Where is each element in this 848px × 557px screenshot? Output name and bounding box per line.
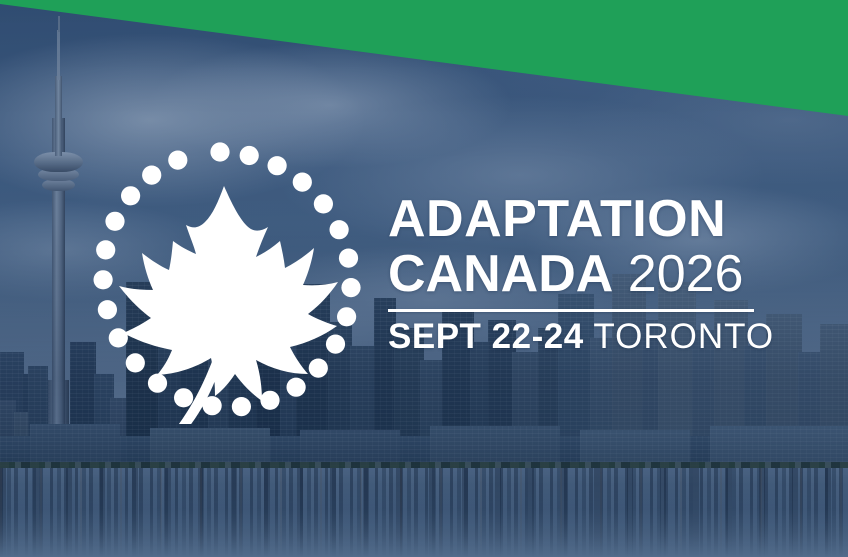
event-title-line1: ADAPTATION bbox=[388, 192, 768, 246]
adaptation-canada-maple-leaf-logo bbox=[72, 128, 368, 424]
event-city: TORONTO bbox=[593, 317, 774, 356]
event-title-line2: CANADA 2026 bbox=[388, 246, 768, 302]
water-reflection-streaks-warm bbox=[0, 468, 848, 557]
event-dates: SEPT 22-24 bbox=[388, 317, 584, 356]
event-title-country: CANADA bbox=[388, 245, 613, 303]
event-lockup: ADAPTATION CANADA 2026 SEPT 22-24 TORONT… bbox=[388, 192, 768, 356]
lockup-divider bbox=[388, 309, 754, 312]
promotional-banner-image: ADAPTATION CANADA 2026 SEPT 22-24 TORONT… bbox=[0, 0, 848, 557]
event-year: 2026 bbox=[628, 245, 744, 303]
green-diagonal-banner bbox=[0, 0, 848, 130]
event-details-line: SEPT 22-24 TORONTO bbox=[388, 318, 768, 356]
